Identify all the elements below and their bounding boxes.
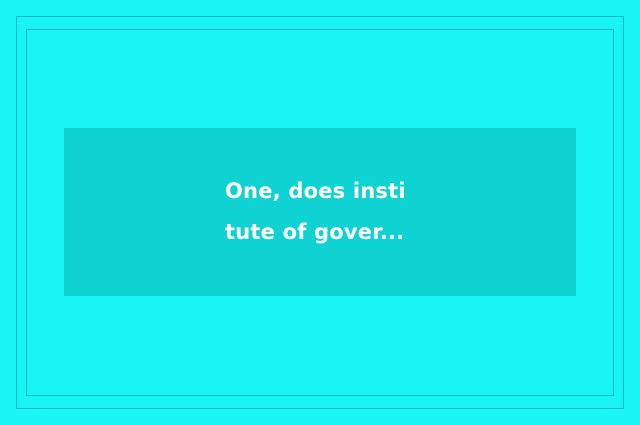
slide-canvas: One, does insti tute of gover...: [0, 0, 640, 425]
text-plate: One, does insti tute of gover...: [64, 128, 576, 296]
text-plate-line-1: One, does insti: [225, 171, 415, 212]
text-plate-line-2: tute of gover...: [225, 212, 415, 253]
